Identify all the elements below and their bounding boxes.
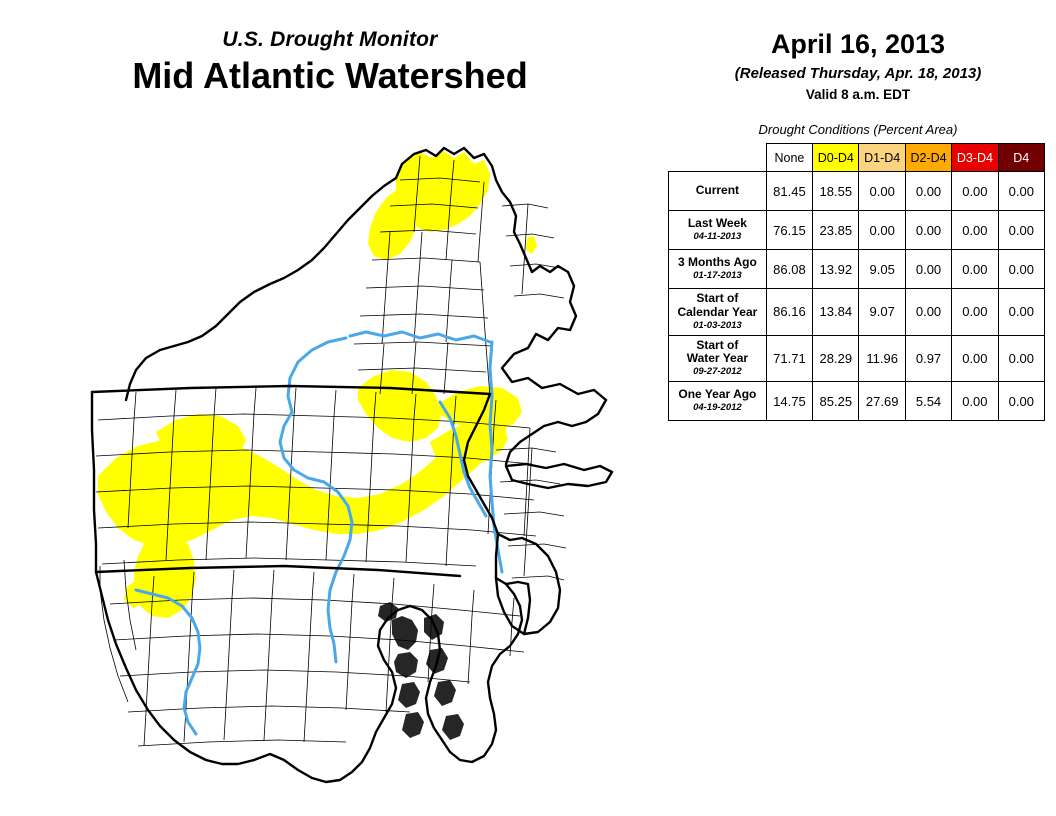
- cell-lastweek-none: 76.15: [766, 211, 812, 250]
- cell-wy-d3d4: 0.00: [952, 335, 998, 382]
- cell-3mo-d2d4: 0.00: [905, 250, 951, 289]
- table-row: 3 Months Ago 01-17-2013 86.08 13.92 9.05…: [669, 250, 1045, 289]
- col-header-d0-d4: D0-D4: [813, 144, 859, 172]
- cell-1yr-d3d4: 0.00: [952, 382, 998, 421]
- row-label-date: 04-11-2013: [671, 232, 764, 243]
- cell-3mo-d3d4: 0.00: [952, 250, 998, 289]
- drought-conditions-table: None D0-D4 D1-D4 D2-D4 D3-D4 D4 Current …: [668, 143, 1045, 421]
- row-label-start-calendar-year: Start ofCalendar Year 01-03-2013: [669, 289, 767, 336]
- table-header-row: None D0-D4 D1-D4 D2-D4 D3-D4 D4: [669, 144, 1045, 172]
- cell-1yr-none: 14.75: [766, 382, 812, 421]
- cell-wy-d1d4: 11.96: [859, 335, 905, 382]
- cell-3mo-d4: 0.00: [998, 250, 1044, 289]
- cell-lastweek-d1d4: 0.00: [859, 211, 905, 250]
- stats-table-caption: Drought Conditions (Percent Area): [660, 122, 1056, 137]
- valid-time: Valid 8 a.m. EDT: [660, 87, 1056, 102]
- row-label-date: 09-27-2012: [671, 367, 764, 378]
- cell-lastweek-d2d4: 0.00: [905, 211, 951, 250]
- cell-cy-d1d4: 9.07: [859, 289, 905, 336]
- row-label-date: 01-17-2013: [671, 271, 764, 282]
- col-header-d3-d4: D3-D4: [952, 144, 998, 172]
- page-title: Mid Atlantic Watershed: [0, 55, 660, 96]
- cell-current-d4: 0.00: [998, 172, 1044, 211]
- row-label-3-months-ago: 3 Months Ago 01-17-2013: [669, 250, 767, 289]
- cell-current-d1d4: 0.00: [859, 172, 905, 211]
- row-label-text: Current: [696, 183, 739, 197]
- cell-cy-d4: 0.00: [998, 289, 1044, 336]
- valid-date: April 16, 2013: [660, 30, 1056, 60]
- map-panel: U.S. Drought Monitor Mid Atlantic Waters…: [0, 0, 660, 816]
- cell-3mo-d0d4: 13.92: [813, 250, 859, 289]
- map-svg: [40, 120, 640, 800]
- row-label-current: Current: [669, 172, 767, 211]
- cell-current-d3d4: 0.00: [952, 172, 998, 211]
- col-header-none: None: [766, 144, 812, 172]
- row-label-start-water-year: Start ofWater Year 09-27-2012: [669, 335, 767, 382]
- cell-1yr-d1d4: 27.69: [859, 382, 905, 421]
- cell-lastweek-d3d4: 0.00: [952, 211, 998, 250]
- map-title-block: U.S. Drought Monitor Mid Atlantic Waters…: [0, 28, 660, 96]
- row-label-text: Start ofCalendar Year: [677, 291, 757, 319]
- info-panel: April 16, 2013 (Released Thursday, Apr. …: [660, 0, 1056, 816]
- cell-1yr-d2d4: 5.54: [905, 382, 951, 421]
- cell-wy-d4: 0.00: [998, 335, 1044, 382]
- cell-lastweek-d4: 0.00: [998, 211, 1044, 250]
- date-block: April 16, 2013 (Released Thursday, Apr. …: [660, 30, 1056, 102]
- cell-cy-d3d4: 0.00: [952, 289, 998, 336]
- col-header-d1-d4: D1-D4: [859, 144, 905, 172]
- table-row: Start ofCalendar Year 01-03-2013 86.16 1…: [669, 289, 1045, 336]
- stats-table-wrap: None D0-D4 D1-D4 D2-D4 D3-D4 D4 Current …: [668, 143, 1048, 421]
- cell-current-none: 81.45: [766, 172, 812, 211]
- row-label-date: 04-19-2012: [671, 403, 764, 414]
- table-corner-cell: [669, 144, 767, 172]
- row-label-one-year-ago: One Year Ago 04-19-2012: [669, 382, 767, 421]
- cell-cy-d2d4: 0.00: [905, 289, 951, 336]
- cell-wy-d0d4: 28.29: [813, 335, 859, 382]
- cell-3mo-d1d4: 9.05: [859, 250, 905, 289]
- cell-1yr-d4: 0.00: [998, 382, 1044, 421]
- table-row: One Year Ago 04-19-2012 14.75 85.25 27.6…: [669, 382, 1045, 421]
- cell-cy-d0d4: 13.84: [813, 289, 859, 336]
- col-header-d4: D4: [998, 144, 1044, 172]
- drought-map-figure[interactable]: [40, 120, 640, 800]
- row-label-last-week: Last Week 04-11-2013: [669, 211, 767, 250]
- table-row: Current 81.45 18.55 0.00 0.00 0.00 0.00: [669, 172, 1045, 211]
- cell-3mo-none: 86.08: [766, 250, 812, 289]
- cell-current-d2d4: 0.00: [905, 172, 951, 211]
- cell-lastweek-d0d4: 23.85: [813, 211, 859, 250]
- map-supertitle: U.S. Drought Monitor: [0, 28, 660, 51]
- cell-1yr-d0d4: 85.25: [813, 382, 859, 421]
- cell-cy-none: 86.16: [766, 289, 812, 336]
- release-note: (Released Thursday, Apr. 18, 2013): [660, 65, 1056, 82]
- row-label-text: Last Week: [688, 216, 747, 230]
- col-header-d2-d4: D2-D4: [905, 144, 951, 172]
- row-label-text: Start ofWater Year: [687, 338, 748, 366]
- cell-wy-none: 71.71: [766, 335, 812, 382]
- row-label-text: One Year Ago: [678, 387, 756, 401]
- table-row: Last Week 04-11-2013 76.15 23.85 0.00 0.…: [669, 211, 1045, 250]
- row-label-text: 3 Months Ago: [678, 255, 757, 269]
- cell-wy-d2d4: 0.97: [905, 335, 951, 382]
- table-row: Start ofWater Year 09-27-2012 71.71 28.2…: [669, 335, 1045, 382]
- cell-current-d0d4: 18.55: [813, 172, 859, 211]
- table-body: Current 81.45 18.55 0.00 0.00 0.00 0.00 …: [669, 172, 1045, 421]
- row-label-date: 01-03-2013: [671, 321, 764, 332]
